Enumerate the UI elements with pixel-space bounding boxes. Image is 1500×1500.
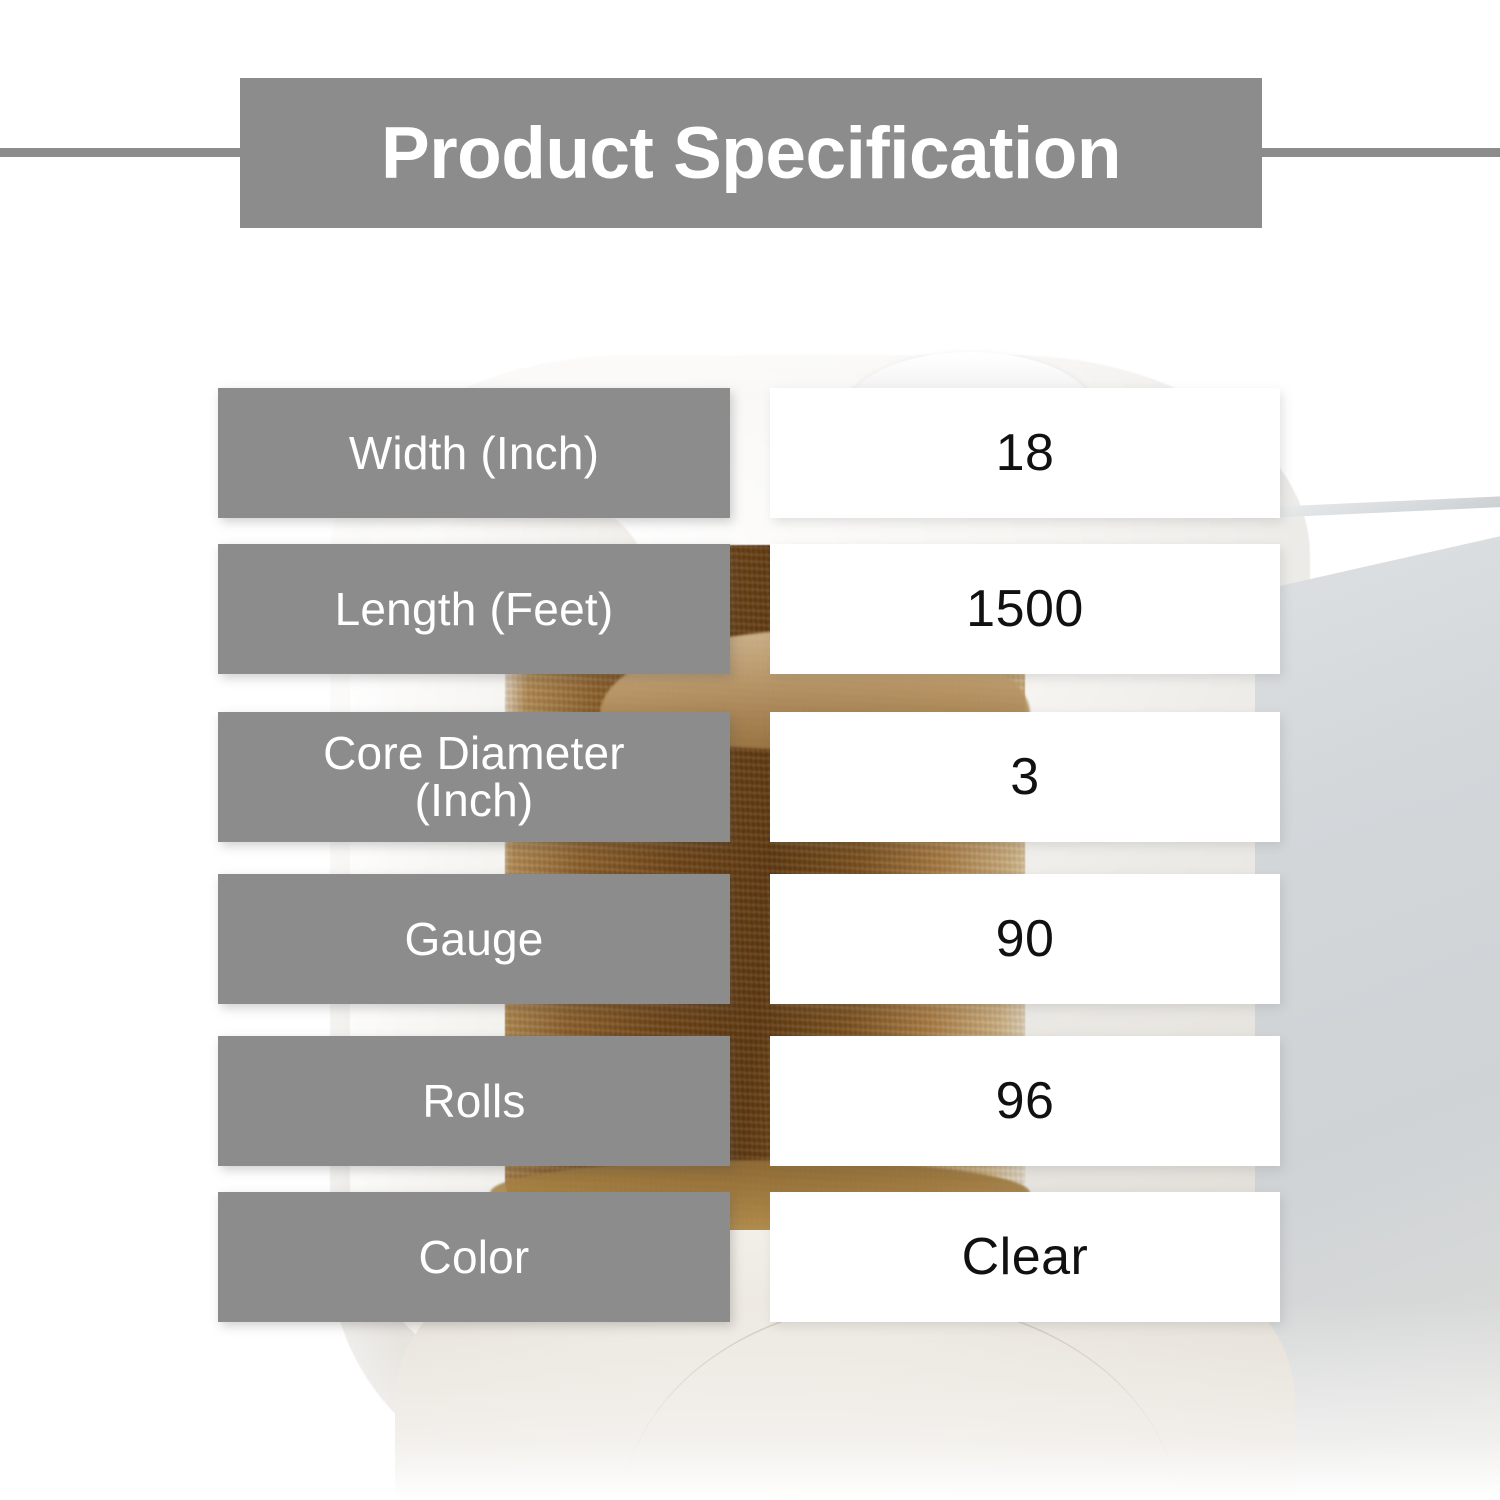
- spec-value-text: 96: [996, 1075, 1055, 1127]
- spec-label-text: Width (Inch): [335, 430, 613, 477]
- spec-label-cell-core-diameter: Core Diameter (Inch): [218, 712, 730, 842]
- spec-label-text: Color: [405, 1234, 544, 1281]
- spec-value-cell-gauge: 90: [770, 874, 1280, 1004]
- spec-value-text: 1500: [966, 583, 1084, 635]
- spec-label-text: Core Diameter (Inch): [309, 730, 639, 824]
- spec-label-cell-color: Color: [218, 1192, 730, 1322]
- spec-value-cell-rolls: 96: [770, 1036, 1280, 1166]
- spec-label-cell-rolls: Rolls: [218, 1036, 730, 1166]
- spec-value-text: 18: [996, 427, 1055, 479]
- spec-value-text: 3: [1010, 751, 1039, 803]
- spec-label-text: Gauge: [390, 916, 557, 963]
- spec-label-text: Rolls: [408, 1078, 539, 1125]
- spec-value-text: Clear: [962, 1231, 1089, 1283]
- spec-label-cell-width: Width (Inch): [218, 388, 730, 518]
- spec-value-text: 90: [996, 913, 1055, 965]
- spec-label-text: Length (Feet): [321, 586, 628, 633]
- spec-value-cell-color: Clear: [770, 1192, 1280, 1322]
- specification-table: Width (Inch) 18 Length (Feet) 1500 Core …: [0, 0, 1500, 1500]
- spec-value-cell-core-diameter: 3: [770, 712, 1280, 842]
- spec-label-cell-length: Length (Feet): [218, 544, 730, 674]
- spec-value-cell-length: 1500: [770, 544, 1280, 674]
- product-specification-infographic: Product Specification Width (Inch) 18 Le…: [0, 0, 1500, 1500]
- spec-value-cell-width: 18: [770, 388, 1280, 518]
- spec-label-cell-gauge: Gauge: [218, 874, 730, 1004]
